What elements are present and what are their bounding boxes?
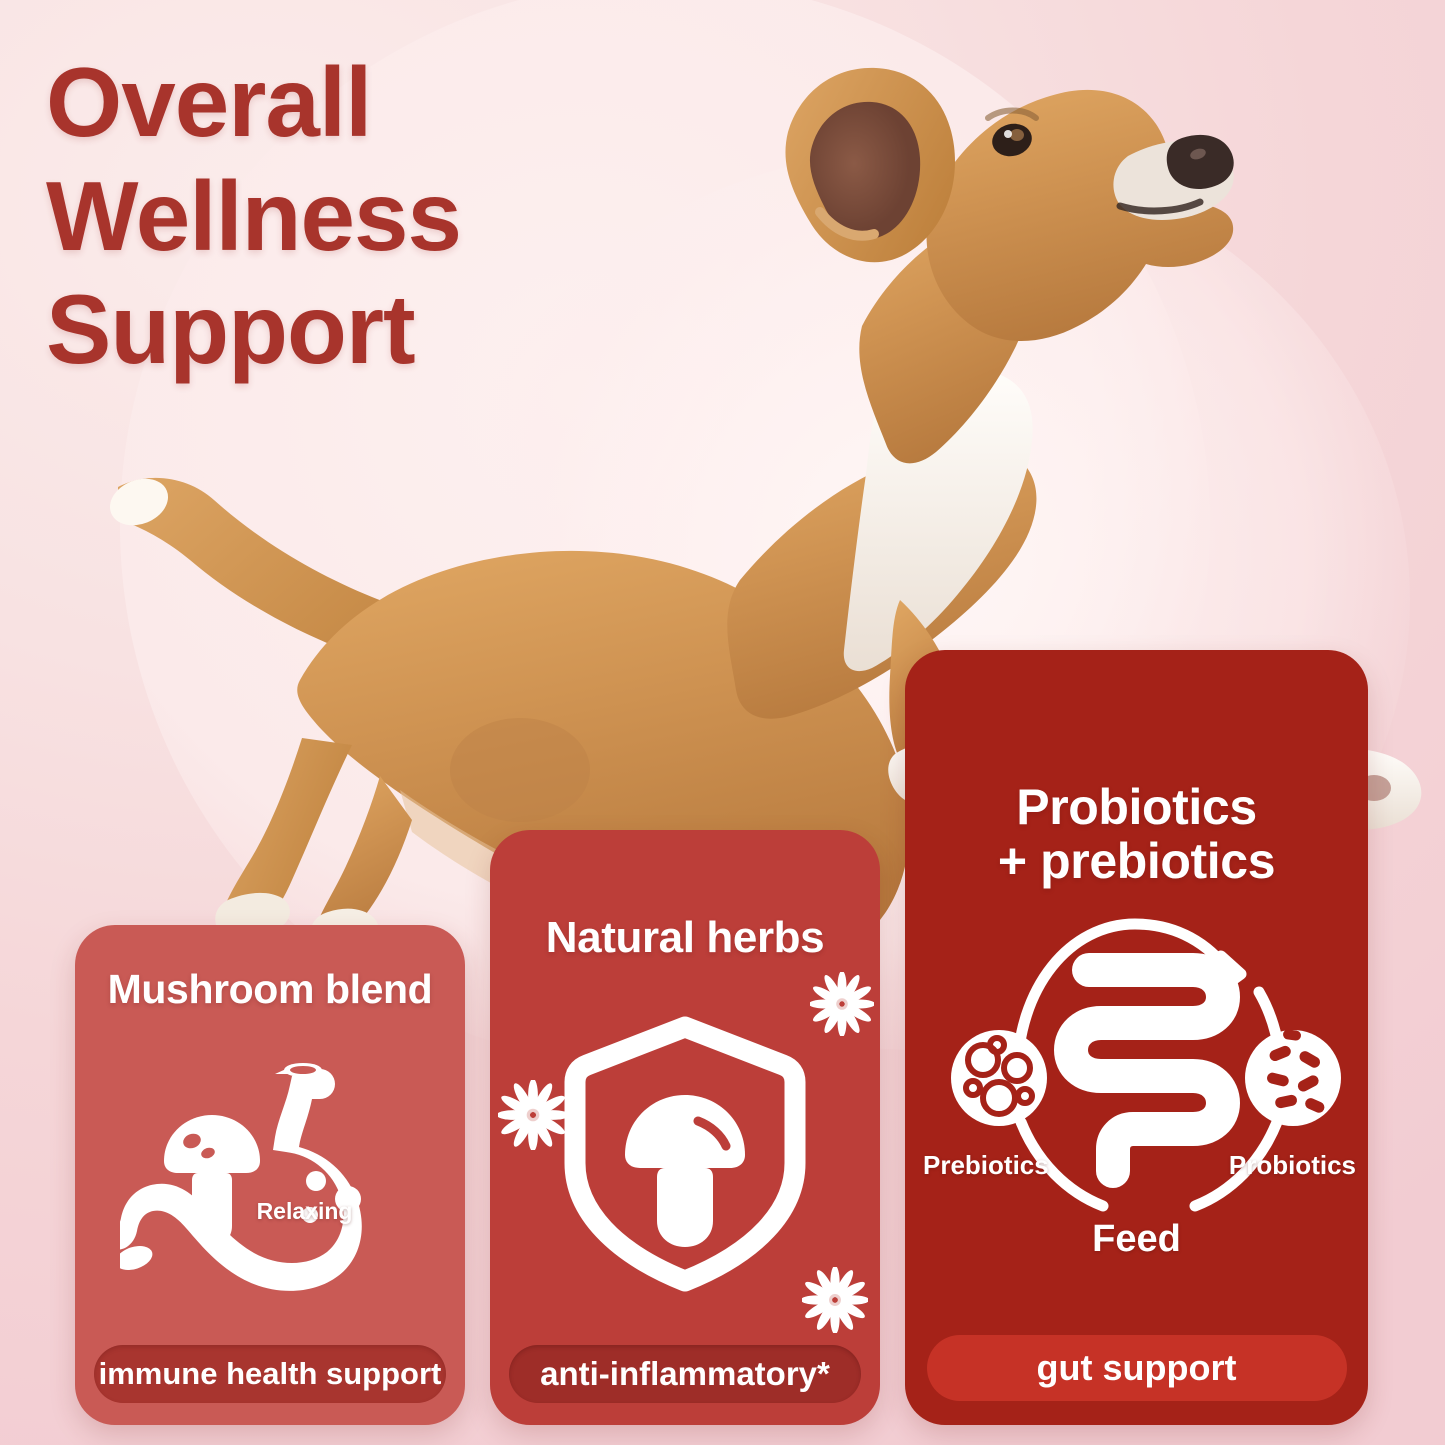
- gut-cycle-icon: [921, 882, 1351, 1262]
- product-feature-banner: Overall Wellness Support: [0, 0, 1445, 1445]
- card-title-probiotics-line-1: Probiotics: [998, 780, 1275, 834]
- daisy-flower-icon: [802, 1267, 868, 1333]
- card-title-herbs: Natural herbs: [546, 914, 824, 962]
- title-line-2: Wellness: [46, 160, 706, 274]
- pill-immune-health-support[interactable]: immune health support: [94, 1345, 446, 1403]
- gut-label-probiotics: Probiotics: [1229, 1150, 1356, 1181]
- card-title-probiotics: Probiotics + prebiotics: [998, 780, 1275, 888]
- pill-gut-support[interactable]: gut support: [927, 1335, 1347, 1401]
- title-line-1: Overall: [46, 46, 706, 160]
- card-title-probiotics-line-2: + prebiotics: [998, 834, 1275, 888]
- shield-mushroom-icon-wrap: [490, 962, 880, 1345]
- stomach-mushroom-icon: [120, 1053, 420, 1303]
- feature-card-probiotics[interactable]: Probiotics + prebiotics: [905, 650, 1368, 1425]
- pill-anti-inflammatory[interactable]: anti-inflammatory*: [509, 1345, 861, 1403]
- gut-label-feed: Feed: [1092, 1218, 1181, 1261]
- title-line-3: Support: [46, 273, 706, 387]
- gut-label-prebiotics: Prebiotics: [923, 1150, 1049, 1181]
- icon-label-relaxing: Relaxing: [257, 1198, 353, 1225]
- gut-cycle-icon-wrap: Prebiotics Probiotics Feed: [905, 888, 1368, 1335]
- feature-card-herbs[interactable]: Natural herbs: [490, 830, 880, 1425]
- card-title-mushroom: Mushroom blend: [108, 967, 433, 1011]
- daisy-flower-icon: [810, 972, 874, 1036]
- stomach-mushroom-icon-wrap: Relaxing: [75, 1011, 465, 1345]
- page-title: Overall Wellness Support: [46, 46, 706, 387]
- feature-card-mushroom[interactable]: Mushroom blend: [75, 925, 465, 1425]
- shield-mushroom-icon: [515, 1013, 855, 1293]
- daisy-flower-icon: [498, 1080, 568, 1150]
